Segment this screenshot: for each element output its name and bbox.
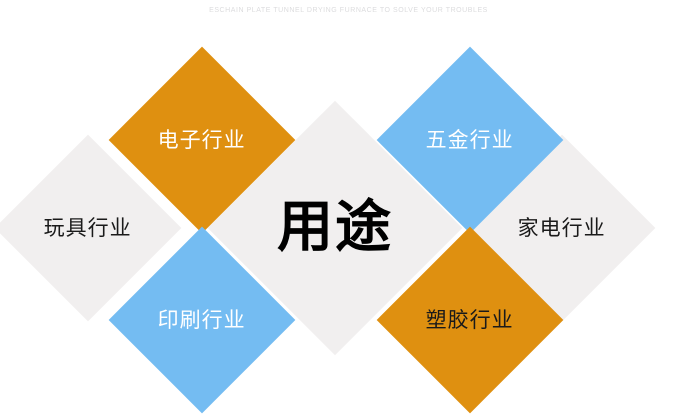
diamond-label-hardware: 五金行业 (426, 130, 514, 151)
header-bar: ESCHAIN PLATE TUNNEL DRYING FURNACE TO S… (0, 0, 697, 20)
diamond-label-electronics: 电子行业 (158, 130, 246, 151)
diamond-label-appliance: 家电行业 (518, 218, 606, 239)
header-tagline: ESCHAIN PLATE TUNNEL DRYING FURNACE TO S… (209, 7, 488, 14)
diamond-label-printing: 印刷行业 (158, 310, 246, 331)
diamond-label-center: 用途 (277, 200, 393, 256)
diamond-label-plastic: 塑胶行业 (426, 310, 514, 331)
diamond-label-toys: 玩具行业 (44, 218, 132, 239)
diamond-diagram: 玩具行业 家电行业 用途 电子行业 五金行业 印刷行业 塑胶行业 (0, 20, 697, 414)
